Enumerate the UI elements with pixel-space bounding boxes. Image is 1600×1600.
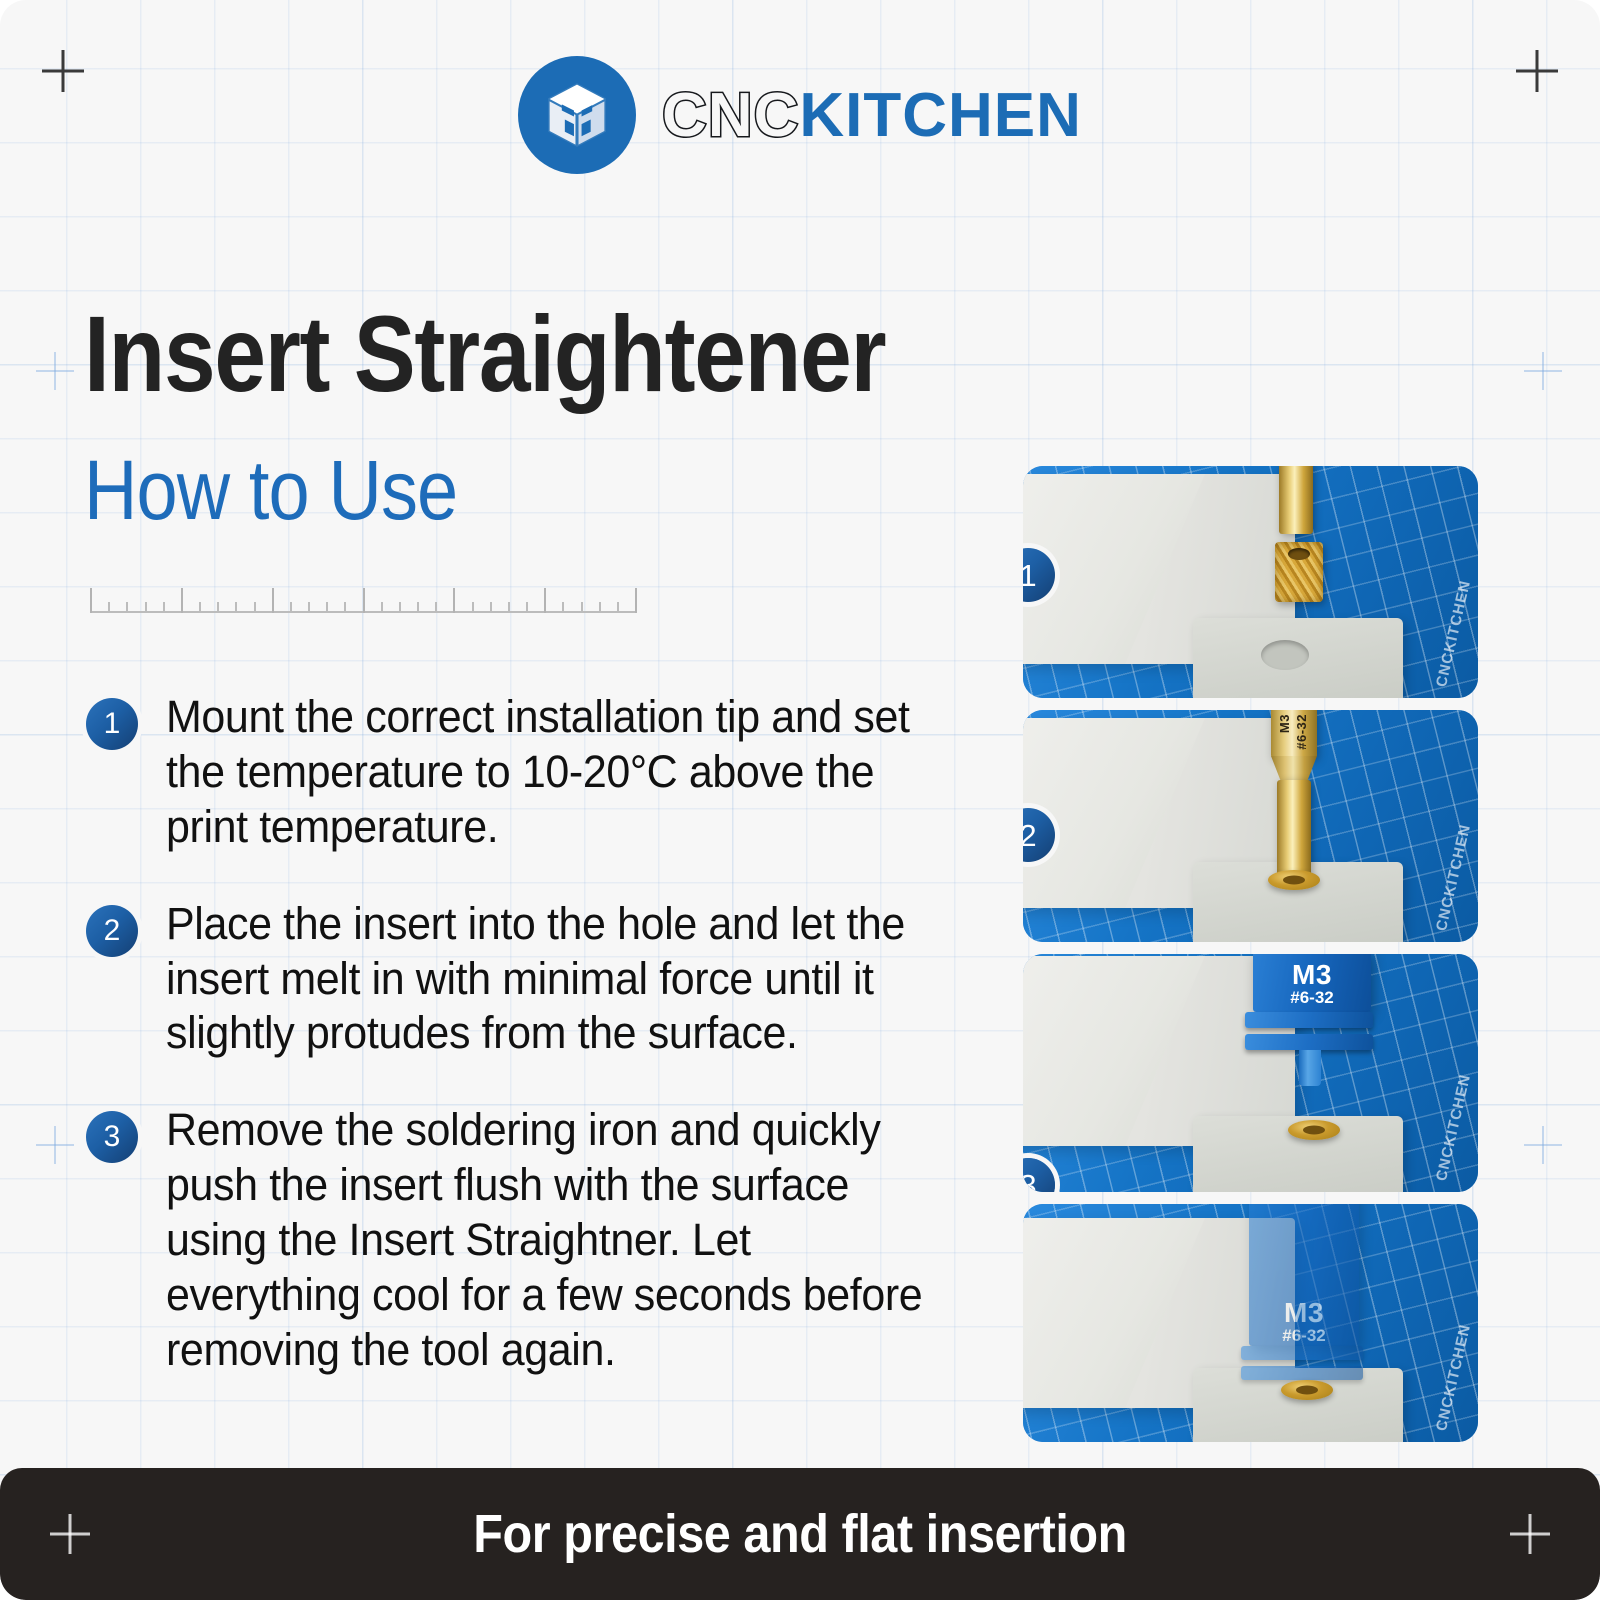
ruler-tick-major	[635, 588, 637, 613]
brand-header: CNCKITCHEN	[0, 56, 1600, 174]
footer-plus-icon	[50, 1514, 90, 1554]
page-title: Insert Straightener	[84, 300, 885, 408]
insert-straightener-pin	[1299, 1050, 1321, 1086]
brass-insert-flush	[1281, 1380, 1333, 1400]
brass-insert	[1275, 542, 1323, 602]
tool-label-imperial: #6-32	[1253, 989, 1371, 1007]
ruler-tick-minor	[217, 602, 219, 613]
step-badge: 1	[86, 698, 138, 750]
step-text: Place the insert into the hole and let t…	[166, 897, 930, 1062]
page-subtitle: How to Use	[84, 448, 457, 532]
tip-engraving-m3: M3	[1278, 714, 1292, 733]
registration-plus-icon	[1524, 352, 1562, 390]
tool-label: M3 #6-32	[1253, 960, 1371, 1007]
registration-plus-icon	[1524, 1126, 1562, 1164]
cnc-kitchen-cube-logo-icon	[518, 56, 636, 174]
photo-step-3: CNCKITCHEN M3 #6-32 3	[1023, 954, 1478, 1192]
ruler-tick-minor	[399, 602, 401, 613]
tool-label-metric: M3	[1253, 960, 1371, 989]
footer-plus-icon	[1510, 1514, 1550, 1554]
ruler-tick-major	[90, 588, 92, 613]
tool-label-metric: M3	[1249, 1298, 1359, 1327]
soldering-iron-shaft	[1279, 466, 1313, 534]
ruler-tick-minor	[599, 602, 601, 613]
insert-straightener-head-ghost: M3 #6-32	[1249, 1204, 1359, 1346]
ruler-tick-minor	[617, 602, 619, 613]
ruler-tick-minor	[126, 602, 128, 613]
step-badge: 2	[86, 905, 138, 957]
brand-word-kitchen: KITCHEN	[799, 80, 1082, 151]
ruler-tick-major	[453, 588, 455, 613]
step-text: Mount the correct installation tip and s…	[166, 690, 930, 855]
ruler-tick-minor	[290, 602, 292, 613]
ruler-tick-major	[272, 588, 274, 613]
insert-straightener-fin	[1245, 1034, 1373, 1050]
insert-straightener-fin-ghost	[1241, 1366, 1363, 1380]
brand-wordmark: CNCKITCHEN	[662, 80, 1082, 151]
footer-banner: For precise and flat insertion	[0, 1468, 1600, 1600]
ruler-tick-minor	[417, 602, 419, 613]
brand-word-cnc: CNC	[662, 80, 799, 151]
insert-straightener-fin	[1245, 1012, 1373, 1028]
ruler-tick-minor	[508, 602, 510, 613]
insert-straightener-head: M3 #6-32	[1253, 954, 1371, 1012]
ruler-tick-minor	[326, 602, 328, 613]
brass-insert-melted	[1268, 870, 1320, 890]
registration-plus-icon	[36, 352, 74, 390]
step-item: 2 Place the insert into the hole and let…	[86, 897, 966, 1062]
footer-tagline: For precise and flat insertion	[473, 1503, 1127, 1565]
ruler-tick-minor	[472, 602, 474, 613]
step-item: 1 Mount the correct installation tip and…	[86, 690, 966, 855]
insert-straightener-fin-ghost	[1241, 1346, 1363, 1360]
ruler-tick-minor	[163, 602, 165, 613]
ruler-tick-minor	[254, 602, 256, 613]
ruler-tick-minor	[490, 602, 492, 613]
ruler-tick-minor	[308, 602, 310, 613]
ruler-tick-major	[544, 588, 546, 613]
step-text: Remove the soldering iron and quickly pu…	[166, 1103, 930, 1377]
ruler-scale-icon	[90, 592, 635, 626]
printed-part-hole	[1261, 640, 1309, 670]
poster-root: CNCKITCHEN Insert Straightener How to Us…	[0, 0, 1600, 1600]
ruler-tick-minor	[199, 602, 201, 613]
ruler-tick-minor	[581, 602, 583, 613]
ruler-tick-minor	[145, 602, 147, 613]
registration-plus-icon	[36, 1126, 74, 1164]
photo-step-1: CNCKITCHEN 1	[1023, 466, 1478, 698]
installation-tip-shank	[1277, 780, 1311, 876]
ruler-tick-minor	[526, 602, 528, 613]
photo-gallery: CNCKITCHEN 1 CNCKITCHEN M3 #6-32 2	[1023, 466, 1478, 1442]
ruler-tick-minor	[435, 602, 437, 613]
steps-list: 1 Mount the correct installation tip and…	[86, 690, 966, 1378]
ruler-tick-minor	[344, 602, 346, 613]
tip-engraving-imperial: #6-32	[1295, 714, 1309, 750]
step-badge: 3	[86, 1111, 138, 1163]
step-item: 3 Remove the soldering iron and quickly …	[86, 1103, 966, 1377]
tool-label: M3 #6-32	[1249, 1298, 1359, 1345]
photo-step-3-result: CNCKITCHEN M3 #6-32	[1023, 1204, 1478, 1442]
ruler-tick-minor	[235, 602, 237, 613]
brass-insert-protruding	[1288, 1120, 1340, 1140]
ruler-tick-minor	[108, 602, 110, 613]
ruler-tick-minor	[562, 602, 564, 613]
photo-step-2: CNCKITCHEN M3 #6-32 2	[1023, 710, 1478, 942]
ruler-tick-major	[181, 588, 183, 613]
ruler-tick-major	[363, 588, 365, 613]
tool-label-imperial: #6-32	[1249, 1327, 1359, 1345]
ruler-tick-minor	[381, 602, 383, 613]
